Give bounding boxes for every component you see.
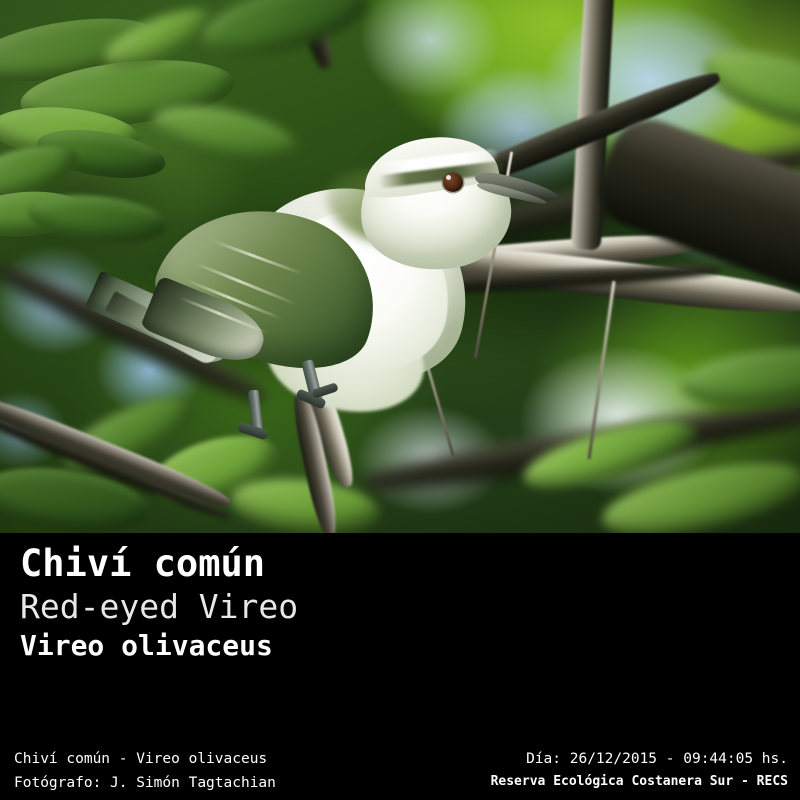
species-title-block: Chiví común Red-eyed Vireo Vireo olivace… [20,542,298,665]
footer-left-block: Chiví común - Vireo olivaceus Fotógrafo:… [14,747,276,795]
footer-species-line: Chiví común - Vireo olivaceus [14,747,276,771]
footer-photographer-line: Fotógrafo: J. Simón Tagtachian [14,771,276,795]
footer-datetime-line: Día: 26/12/2015 - 09:44:05 hs. [491,747,788,771]
bird-photograph [0,0,800,533]
photo-card: Chiví común Red-eyed Vireo Vireo olivace… [0,0,800,800]
bird-eye-highlight [446,175,451,180]
footer-location-line: Reserva Ecológica Costanera Sur - RECS [491,771,788,793]
scientific-name-title: Vireo olivaceus [20,627,298,665]
footer-right-block: Día: 26/12/2015 - 09:44:05 hs. Reserva E… [491,747,788,793]
caption-band: Chiví común Red-eyed Vireo Vireo olivace… [0,533,800,800]
common-name-title: Chiví común [20,542,298,586]
english-name-title: Red-eyed Vireo [20,586,298,627]
red-eyed-vireo [60,60,540,480]
